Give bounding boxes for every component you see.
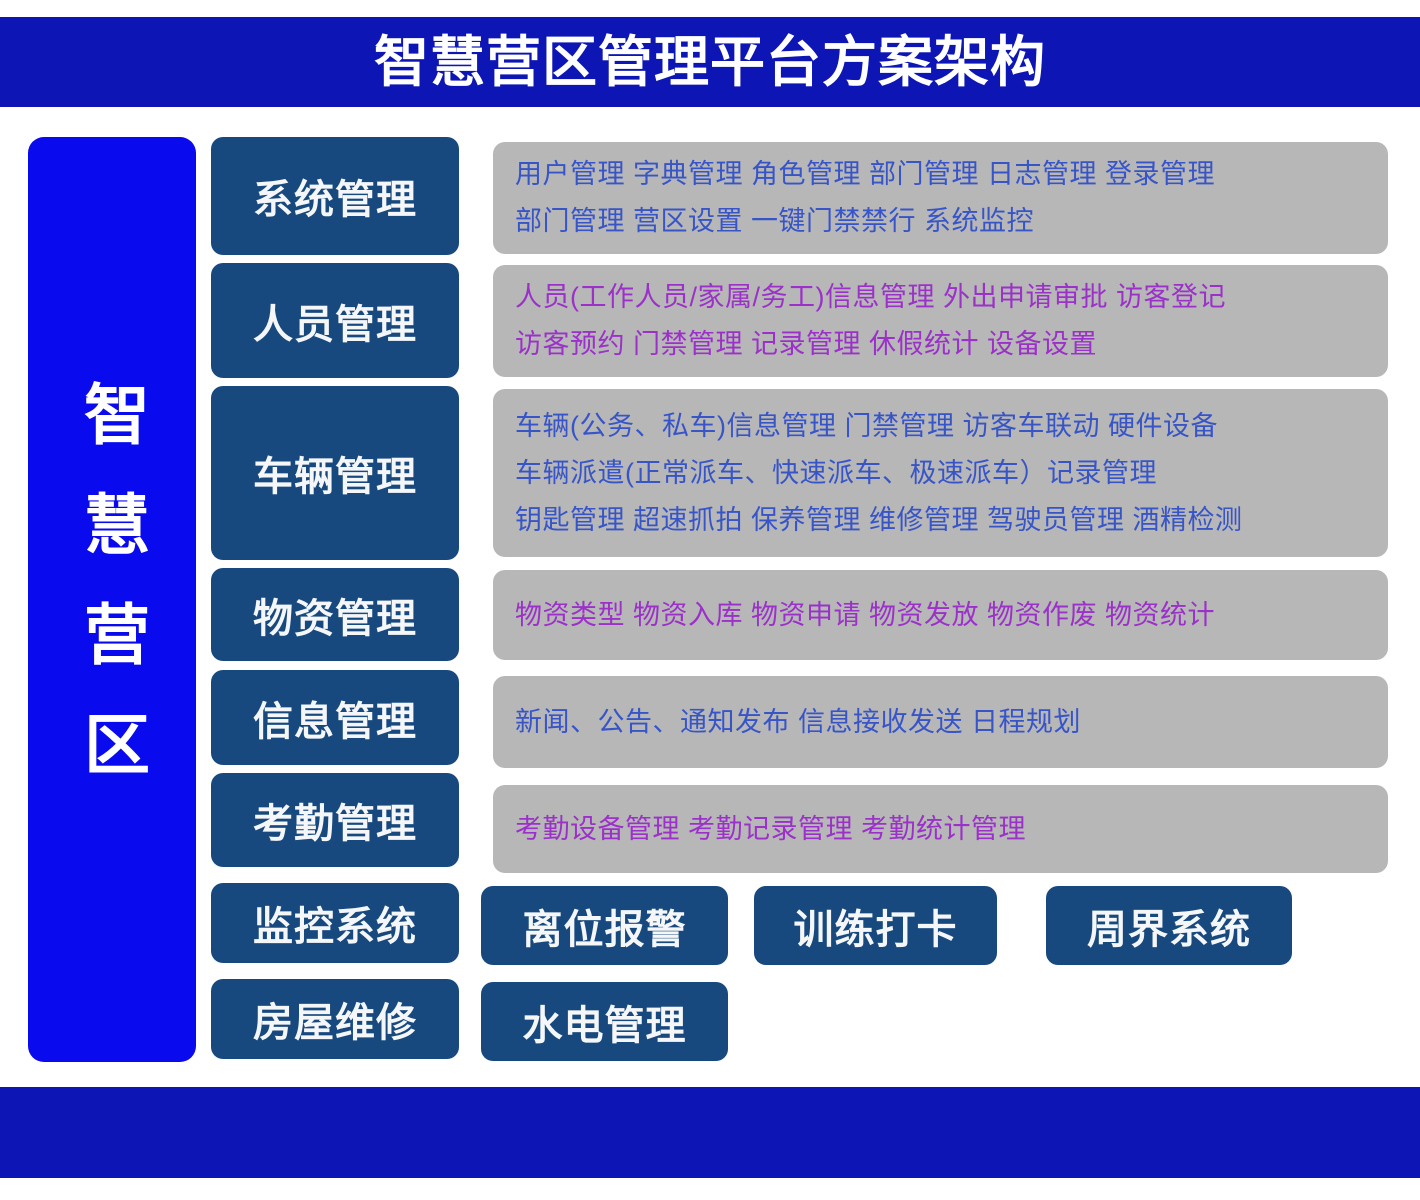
brand-sidebar: 智慧营区 [28,137,196,1062]
title-banner: 智慧营区管理平台方案架构 [0,17,1420,107]
chip-label: 离位报警 [523,897,687,955]
category-box-system-management[interactable]: 系统管理 [211,137,459,255]
detail-panel-material-management: 物资类型 物资入库 物资申请 物资发放 物资作废 物资统计 [493,570,1388,660]
category-label: 监控系统 [253,894,417,952]
category-label: 人员管理 [253,292,417,350]
detail-panel-system-management: 用户管理 字典管理 角色管理 部门管理 日志管理 登录管理 部门管理 营区设置 … [493,142,1388,254]
detail-line: 人员(工作人员/家属/务工)信息管理 外出申请审批 访客登记 [515,274,1366,321]
diagram-canvas: 智慧营区管理平台方案架构 智慧营区 系统管理 人员管理 车辆管理 物资管理 信息… [0,0,1420,1200]
page-title: 智慧营区管理平台方案架构 [374,35,1046,90]
chip-absence-alarm[interactable]: 离位报警 [481,886,728,965]
chip-label: 水电管理 [523,993,687,1051]
detail-line: 车辆(公务、私车)信息管理 门禁管理 访客车联动 硬件设备 [515,403,1366,450]
category-label: 考勤管理 [253,791,417,849]
detail-line: 用户管理 字典管理 角色管理 部门管理 日志管理 登录管理 [515,151,1366,198]
detail-line: 物资类型 物资入库 物资申请 物资发放 物资作废 物资统计 [515,592,1366,639]
detail-line: 钥匙管理 超速抓拍 保养管理 维修管理 驾驶员管理 酒精检测 [515,497,1366,544]
detail-line: 部门管理 营区设置 一键门禁禁行 系统监控 [515,198,1366,245]
category-box-personnel-management[interactable]: 人员管理 [211,263,459,378]
chip-label: 训练打卡 [794,897,958,955]
detail-line: 考勤设备管理 考勤记录管理 考勤统计管理 [515,806,1366,853]
category-box-vehicle-management[interactable]: 车辆管理 [211,386,459,560]
category-label: 物资管理 [253,586,417,644]
category-box-material-management[interactable]: 物资管理 [211,568,459,661]
detail-line: 车辆派遣(正常派车、快速派车、极速派车）记录管理 [515,450,1366,497]
category-box-house-repair[interactable]: 房屋维修 [211,979,459,1059]
chip-utilities-management[interactable]: 水电管理 [481,982,728,1061]
category-box-attendance-management[interactable]: 考勤管理 [211,773,459,867]
category-box-monitoring-system[interactable]: 监控系统 [211,883,459,963]
chip-label: 周界系统 [1087,897,1251,955]
category-label: 房屋维修 [253,990,417,1048]
category-label: 系统管理 [253,167,417,225]
bottom-banner [0,1087,1420,1178]
category-label: 信息管理 [253,689,417,747]
category-label: 车辆管理 [253,444,417,502]
chip-training-checkin[interactable]: 训练打卡 [754,886,997,965]
detail-panel-personnel-management: 人员(工作人员/家属/务工)信息管理 外出申请审批 访客登记 访客预约 门禁管理… [493,265,1388,377]
detail-line: 访客预约 门禁管理 记录管理 休假统计 设备设置 [515,321,1366,368]
detail-panel-information-management: 新闻、公告、通知发布 信息接收发送 日程规划 [493,676,1388,768]
category-box-information-management[interactable]: 信息管理 [211,670,459,765]
detail-panel-vehicle-management: 车辆(公务、私车)信息管理 门禁管理 访客车联动 硬件设备 车辆派遣(正常派车、… [493,389,1388,557]
chip-perimeter-system[interactable]: 周界系统 [1046,886,1292,965]
brand-label: 智慧营区 [79,380,145,820]
detail-line: 新闻、公告、通知发布 信息接收发送 日程规划 [515,699,1366,746]
detail-panel-attendance-management: 考勤设备管理 考勤记录管理 考勤统计管理 [493,785,1388,873]
